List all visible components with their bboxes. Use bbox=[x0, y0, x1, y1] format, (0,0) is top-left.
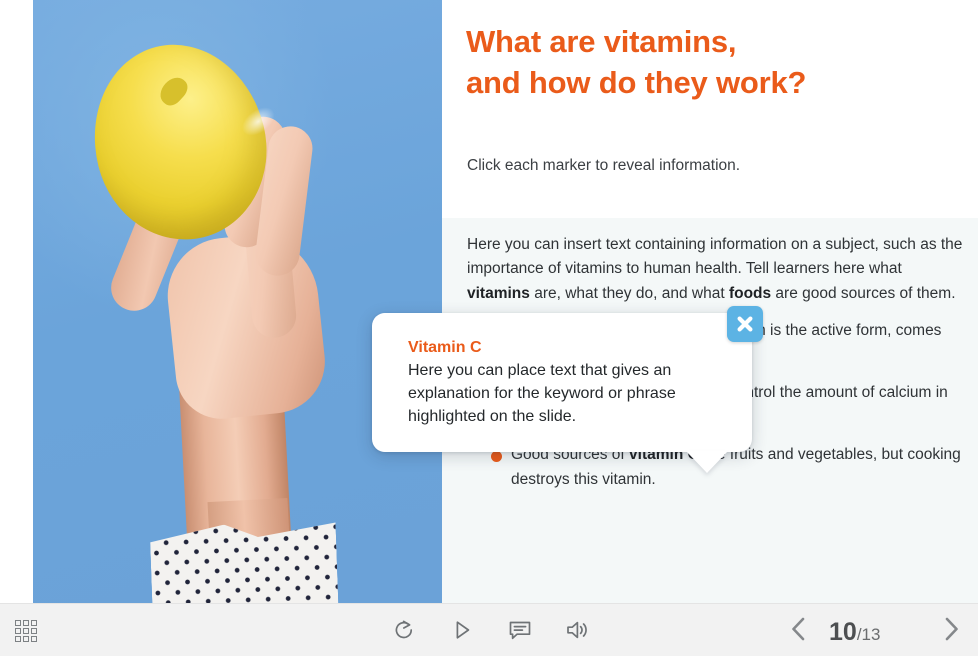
page-indicator: 10/13 bbox=[829, 618, 880, 647]
intro-text-b: are, what they do, and what bbox=[530, 285, 729, 302]
lemon-stem-nib bbox=[155, 73, 191, 110]
speaker-icon bbox=[563, 617, 591, 646]
transcript-button[interactable] bbox=[504, 616, 536, 646]
intro-text-a: Here you can insert text containing info… bbox=[467, 236, 962, 277]
slide-canvas: What are vitamins, and how do they work?… bbox=[0, 0, 978, 603]
intro-bold-vitamins: vitamins bbox=[467, 285, 530, 302]
intro-paragraph: Here you can insert text containing info… bbox=[467, 233, 964, 306]
slide-player: What are vitamins, and how do they work?… bbox=[0, 0, 978, 656]
intro-bold-foods: foods bbox=[729, 285, 771, 302]
current-page-number: 10 bbox=[829, 618, 857, 646]
chevron-right-icon bbox=[938, 614, 964, 647]
close-popup-button[interactable] bbox=[727, 306, 763, 342]
intro-text-c: are good sources of them. bbox=[771, 285, 955, 302]
popup-body: Here you can place text that gives an ex… bbox=[408, 359, 724, 428]
headline-line-2: and how do they work? bbox=[466, 63, 966, 104]
grid-menu-icon bbox=[15, 620, 37, 642]
headline-line-1: What are vitamins, bbox=[466, 22, 966, 63]
bullet-dot-icon bbox=[491, 451, 502, 462]
vitamin-c-popup: Vitamin C Here you can place text that g… bbox=[372, 313, 752, 452]
popup-pointer bbox=[686, 451, 728, 473]
instruction-text: Click each marker to reveal information. bbox=[467, 155, 967, 177]
play-button[interactable] bbox=[447, 616, 477, 646]
volume-button[interactable] bbox=[561, 616, 593, 646]
hand-holding-lemon-photo bbox=[33, 0, 442, 603]
chevron-left-icon bbox=[786, 614, 812, 647]
replay-icon bbox=[391, 617, 417, 646]
popup-title: Vitamin C bbox=[408, 339, 724, 357]
page-title: What are vitamins, and how do they work? bbox=[466, 22, 966, 104]
speech-bubble-icon bbox=[506, 617, 534, 646]
player-toolbar: 10/13 bbox=[0, 603, 978, 656]
replay-button[interactable] bbox=[389, 616, 419, 646]
close-icon bbox=[727, 313, 763, 335]
play-icon bbox=[449, 617, 475, 646]
previous-slide-button[interactable] bbox=[784, 614, 814, 646]
next-slide-button[interactable] bbox=[936, 614, 966, 646]
menu-button[interactable] bbox=[12, 617, 40, 645]
total-page-number: 13 bbox=[862, 625, 881, 644]
